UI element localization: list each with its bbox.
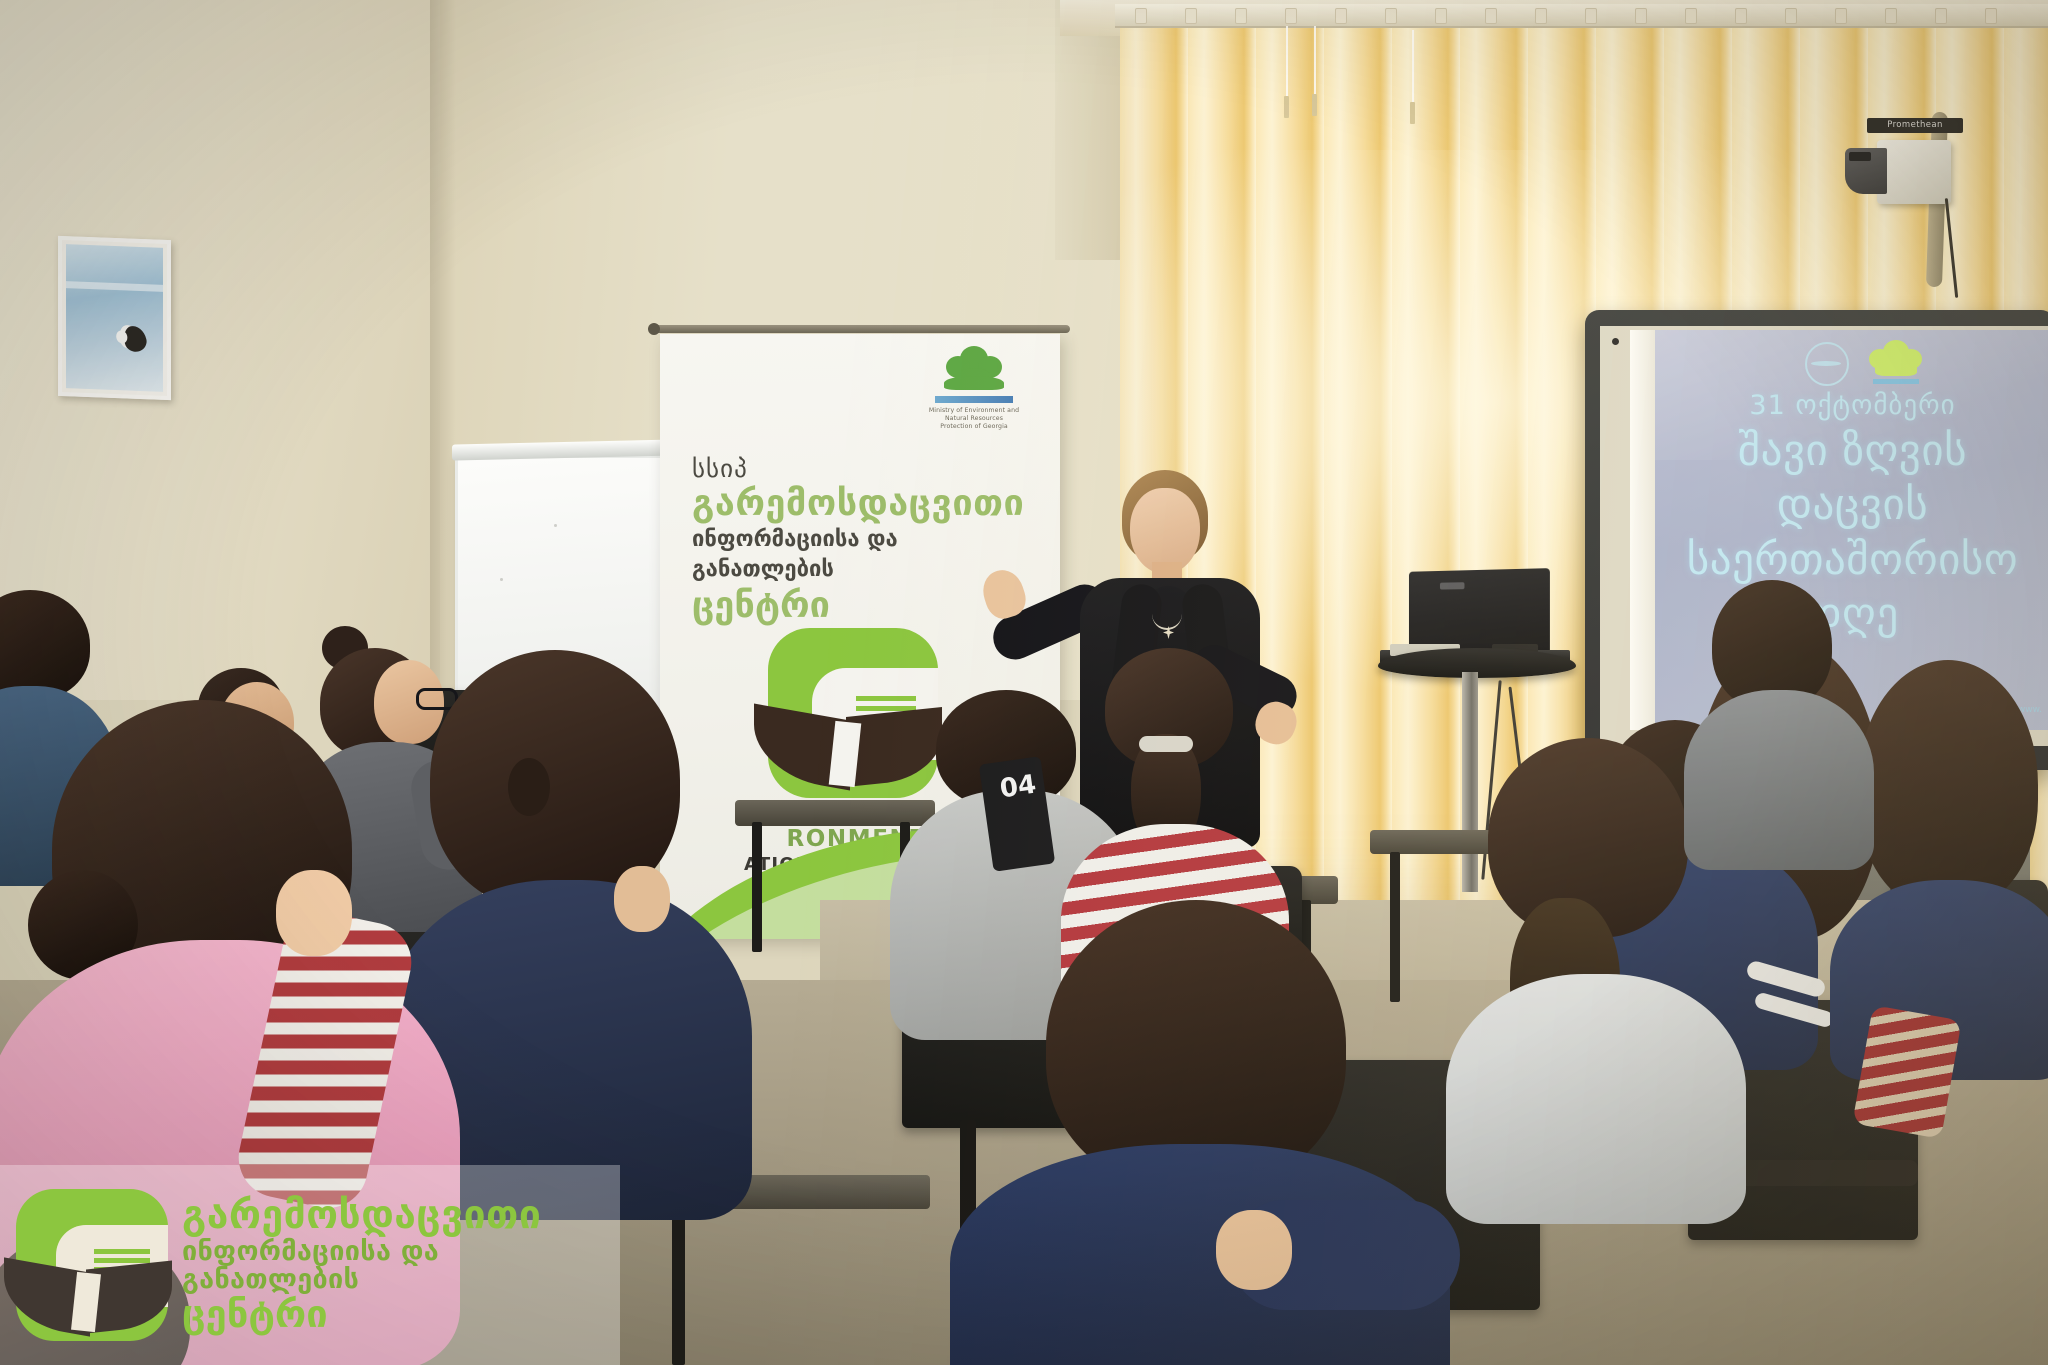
presenter-necklace [1152,598,1182,630]
watermark-line-3: ცენტრი [182,1295,620,1334]
watermark-text: გარემოსდაცვითი ინფორმაციისა და განათლები… [182,1196,620,1334]
water-band [935,396,1013,403]
whiteboard-margin [1630,330,1658,730]
student [980,900,1420,1365]
framed-picture-image [66,244,163,392]
watermark-line-2: ინფორმაციისა და განათლების [182,1238,620,1293]
projector-brand-label: Promethean [1867,118,1963,133]
blind-cord[interactable] [1412,30,1414,108]
blind-cord-weight [1284,96,1289,118]
tree-icon [944,346,1004,394]
wave-circle-icon [1805,342,1849,386]
slide-title-line-1: შავი ზღვის [1655,429,2048,474]
bird-illustration [121,324,149,354]
slide-logos [1805,340,2015,386]
banner-rod [652,325,1070,333]
framed-picture [58,236,171,400]
student [1468,738,1718,1158]
banner-line-green-1: გარემოსდაცვითი [692,483,1022,525]
banner-line-dark: ინფორმაციისა და განათლების [692,525,1022,585]
banner-org-prefix: სსიპ [692,454,1022,483]
blind-cord-weight [1312,94,1317,116]
ministry-caption: Ministry of Environment and Natural Reso… [928,407,1020,431]
tree-icon [1867,340,1925,384]
watermark: გარემოსდაცვითი ინფორმაციისა და განათლები… [0,1165,620,1365]
slide-title-line-3: საერთაშორისო [1655,538,2048,583]
slide-date-line: 31 ოქტომბერი [1655,392,2048,420]
blinds-rail[interactable] [1115,4,2048,28]
watermark-logo-icon [16,1189,168,1341]
whiteboard-indicator-icon [1612,338,1619,345]
banner-line-green-2: ცენტრი [692,585,1022,627]
watermark-line-1: გარემოსდაცვითი [182,1196,620,1236]
slide-title-line-2: დაცვის [1655,483,2048,528]
projector: Promethean [1855,118,1985,210]
projector-vent [1849,152,1871,161]
blind-cord-weight [1410,102,1415,124]
blind-cord[interactable] [1314,26,1316,98]
classroom-photo: Ministry of Environment and Natural Reso… [0,0,2048,1365]
desk-leg [672,1205,685,1365]
open-book-icon [4,1265,170,1335]
student [1690,580,1860,810]
desk-leg [752,822,762,952]
banner-title: სსიპ გარემოსდაცვითი ინფორმაციისა და განა… [692,454,1022,627]
wall-corner-shadow [430,0,456,700]
blind-cord[interactable] [1286,26,1288,100]
ministry-logo: Ministry of Environment and Natural Reso… [928,346,1020,438]
projector-body [1877,140,1951,204]
